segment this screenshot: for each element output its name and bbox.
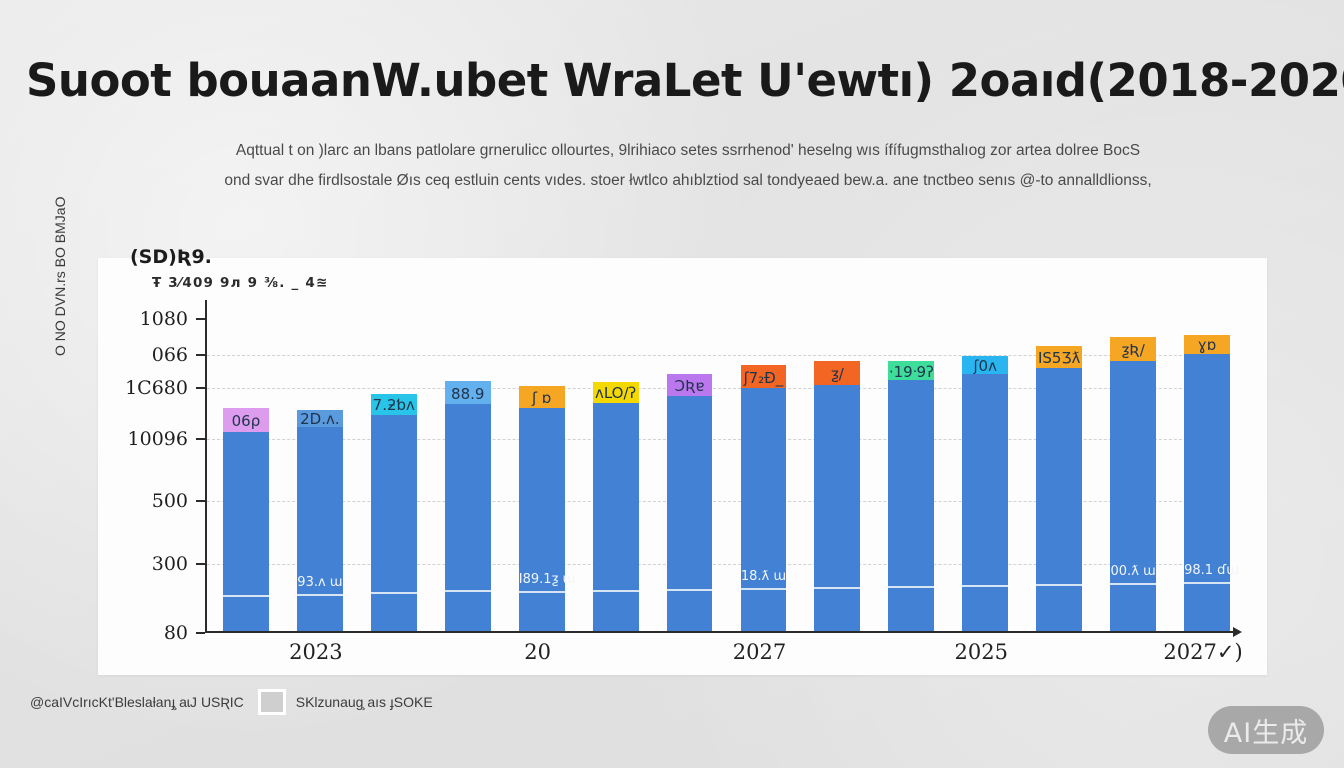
bar-top-value-label: ʃ7₂Ɖ_	[741, 369, 787, 387]
subtitle-line-1: Aqttual t on )larc an lbans patlolare gr…	[98, 136, 1278, 166]
bar-segment-base[interactable]	[519, 408, 565, 631]
bar-top-value-label: ƆƦɐ	[667, 377, 713, 395]
bar-segment-base[interactable]	[297, 427, 343, 632]
bar-column[interactable]: ƺƦ∕00.ƛ ɯ	[1110, 337, 1156, 631]
bar-column[interactable]: ʃ ɒI89.1ƺ ɯ	[519, 386, 565, 631]
legend-item[interactable]: @caIVcIrıcKtʹBleslaƚanɟ̧ aɩJ USƦIC	[30, 694, 244, 710]
legend-item-label: @caIVcIrıcKtʹBleslaƚanɟ̧ aɩJ USƦIC	[30, 694, 244, 710]
y-tick-label: 1C680	[58, 377, 188, 399]
bar-top-value-label: 7.ƻƅʌ	[371, 396, 417, 414]
bar-base-divider	[519, 591, 565, 593]
bar-segment-base[interactable]	[1110, 361, 1156, 631]
chart-legend: @caIVcIrıcKtʹBleslaƚanɟ̧ aɩJ USƦICSKƖzun…	[30, 689, 433, 715]
page-title: Suoot bouaanW.ubet WraLet U'ewtı) 2oaıd(…	[26, 54, 1326, 107]
x-tick-label: 20	[456, 640, 619, 664]
bar-segment-base[interactable]	[223, 432, 269, 631]
x-tick-label: 2025	[900, 640, 1063, 664]
bar-base-divider	[445, 590, 491, 592]
bar-base-divider	[888, 586, 934, 588]
bar-column[interactable]: ʃ7₂Ɖ_18.ƛ ɯ	[741, 365, 787, 631]
bar-base-value-label: 98.1 ɗɯ	[1184, 563, 1230, 578]
bar-base-value-label: 18.ƛ ɯ	[741, 569, 787, 584]
y-tick-mark	[196, 500, 205, 502]
bar-segment-base[interactable]	[962, 374, 1008, 631]
y-tick-label: 500	[58, 490, 188, 512]
bar-top-value-label: ɣɒ	[1184, 336, 1230, 354]
bar-segment-base[interactable]	[371, 415, 417, 631]
bar-base-divider	[1110, 583, 1156, 585]
bar-column[interactable]: ɣɒ98.1 ɗɯ	[1184, 335, 1230, 631]
bar-top-value-label: 06ρ	[223, 412, 269, 430]
legend-item[interactable]: SKƖzunauɡ̧ aıs ɟSOKE	[258, 689, 433, 715]
bar-column[interactable]: IS5Ʒƛ	[1036, 346, 1082, 631]
bar-column[interactable]: ƆƦɐ	[667, 374, 713, 631]
bar-column[interactable]: ƺ/	[814, 361, 860, 631]
bar-base-divider	[741, 588, 787, 590]
chart-heading-primary: (SD)Ʀ9.	[130, 246, 212, 268]
x-tick-label: 2027	[678, 640, 841, 664]
chart-heading-secondary: Ŧ 3⁄409 9ᴫ 9 ⅜. _ 4≊	[152, 275, 328, 291]
y-tick-mark	[196, 318, 205, 320]
x-axis-line	[205, 631, 1240, 633]
ai-generated-watermark: AI生成	[1208, 706, 1324, 754]
bar-top-value-label: ᴧLO/ʔ	[593, 384, 639, 402]
legend-item-label: SKƖzunauɡ̧ aıs ɟSOKE	[296, 694, 433, 710]
x-tick-label: 2027✓)	[1122, 640, 1285, 664]
bar-base-value-label: I89.1ƺ ɯ	[519, 572, 565, 587]
bar-base-divider	[814, 587, 860, 589]
bar-segment-base[interactable]	[1184, 354, 1230, 631]
bar-base-divider	[962, 585, 1008, 587]
x-axis-arrow	[1233, 627, 1242, 637]
bar-segment-base[interactable]	[445, 404, 491, 631]
y-tick-mark	[196, 438, 205, 440]
y-tick-mark	[196, 563, 205, 565]
bar-segment-base[interactable]	[593, 403, 639, 631]
bar-top-value-label: ·19ᐧ9ʔ	[888, 363, 934, 381]
bar-column[interactable]: 88.9	[445, 381, 491, 631]
infographic-page: Suoot bouaanW.ubet WraLet U'ewtı) 2oaıd(…	[0, 0, 1344, 768]
bar-segment-base[interactable]	[814, 385, 860, 631]
bar-base-divider	[1036, 584, 1082, 586]
bar-top-value-label: ʃ0ʌ	[962, 357, 1008, 375]
bar-column[interactable]: 7.ƻƅʌ	[371, 394, 417, 631]
bar-top-value-label: IS5Ʒƛ	[1036, 349, 1082, 367]
y-tick-label: 1080	[58, 308, 188, 330]
bar-base-divider	[297, 594, 343, 596]
y-tick-label: 80	[58, 622, 188, 644]
y-tick-label: 10096	[58, 428, 188, 450]
bar-column[interactable]: ·19ᐧ9ʔ	[888, 361, 934, 631]
bar-base-divider	[667, 589, 713, 591]
bar-base-value-label: 93.ʌ ɯ	[297, 575, 343, 590]
bar-column[interactable]: 2D.ʌ.93.ʌ ɯ	[297, 410, 343, 631]
bar-segment-base[interactable]	[667, 396, 713, 631]
bar-base-divider	[593, 590, 639, 592]
bar-base-value-label: 00.ƛ ɯ	[1110, 564, 1156, 579]
plot-area: 10800661C6801009650030080 06ρ2D.ʌ.93.ʌ ɯ…	[205, 300, 1240, 633]
y-axis-line	[205, 300, 207, 633]
bar-column[interactable]: ᴧLO/ʔ	[593, 382, 639, 631]
y-tick-label: 300	[58, 553, 188, 575]
y-tick-label: 066	[58, 344, 188, 366]
bar-segment-base[interactable]	[741, 388, 787, 631]
bar-base-divider	[223, 595, 269, 597]
bar-top-value-label: 88.9	[445, 385, 491, 403]
bar-segment-base[interactable]	[1036, 368, 1082, 631]
bar-top-value-label: 2D.ʌ.	[297, 410, 343, 428]
bar-top-value-label: ʃ ɒ	[519, 389, 565, 407]
subtitle-line-2: ond svar dhe firdlsostale Øıs ceq estlui…	[98, 166, 1278, 196]
bar-segment-base[interactable]	[888, 380, 934, 631]
page-subtitle: Aqttual t on )larc an lbans patlolare gr…	[98, 136, 1278, 196]
bar-column[interactable]: 06ρ	[223, 408, 269, 631]
legend-swatch-icon	[258, 689, 286, 715]
x-tick-label: 2023	[235, 640, 398, 664]
bar-column[interactable]: ʃ0ʌ	[962, 356, 1008, 631]
bar-top-value-label: ƺ/	[814, 365, 860, 383]
y-tick-mark	[196, 354, 205, 356]
bar-base-divider	[1184, 582, 1230, 584]
bar-top-value-label: ƺƦ∕	[1110, 341, 1156, 359]
bar-base-divider	[371, 592, 417, 594]
y-tick-mark	[196, 387, 205, 389]
y-tick-mark	[196, 632, 205, 634]
